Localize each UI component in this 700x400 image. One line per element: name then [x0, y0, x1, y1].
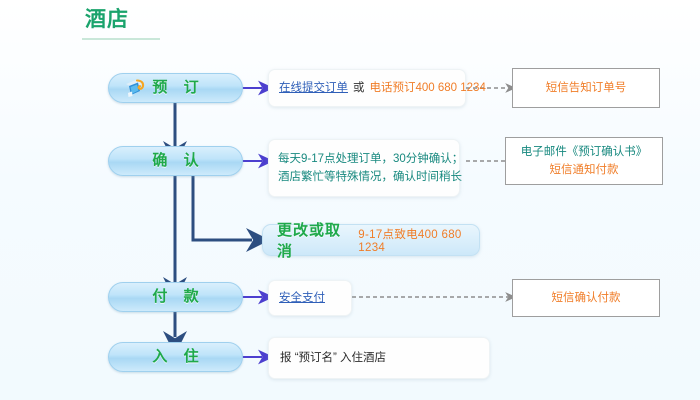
- title-underline: [82, 38, 160, 40]
- stage-payment[interactable]: 付 款: [108, 282, 243, 312]
- phone-booking-text: 电话预订400 680 1234: [370, 82, 486, 94]
- cancel-box-title: 更改或取消: [277, 219, 349, 261]
- infobox-confirm-line1: 每天9-17点处理订单，30分钟确认；: [269, 150, 459, 168]
- or-separator: 或: [353, 82, 365, 94]
- resultbox-booking-line1: 短信告知订单号: [546, 79, 627, 97]
- booking-card-icon: [123, 77, 147, 101]
- stage-label: 预 订: [146, 79, 204, 97]
- flowchart-canvas: 酒店: [0, 0, 700, 400]
- stage-label: 付 款: [146, 288, 204, 306]
- infobox-checkin: 报 “预订名” 入住酒店: [268, 337, 490, 379]
- resultbox-confirm-line1: 电子邮件《预订确认书》: [521, 143, 648, 161]
- stage-label: 确 认: [146, 152, 204, 170]
- infobox-payment-line: 安全支付: [269, 289, 351, 307]
- infobox-confirm: 每天9-17点处理订单，30分钟确认； 酒店繁忙等特殊情况，确认时间稍长: [268, 139, 460, 197]
- cancel-box[interactable]: 更改或取消 9-17点致电400 680 1234: [262, 224, 480, 256]
- infobox-booking: 在线提交订单或电话预订400 680 1234: [268, 69, 466, 107]
- infobox-checkin-line1: 报 “预订名” 入住酒店: [269, 349, 489, 367]
- stage-checkin[interactable]: 入 住: [108, 342, 243, 372]
- connector-confirm-to-cancel: [193, 174, 252, 240]
- infobox-confirm-line2: 酒店繁忙等特殊情况，确认时间稍长: [269, 168, 459, 186]
- page-title: 酒店: [85, 7, 129, 33]
- online-order-link[interactable]: 在线提交订单: [279, 82, 348, 94]
- stage-label: 入 住: [146, 348, 204, 366]
- secure-payment-link[interactable]: 安全支付: [279, 292, 325, 304]
- infobox-payment: 安全支付: [268, 280, 352, 316]
- infobox-booking-line: 在线提交订单或电话预订400 680 1234: [269, 79, 465, 97]
- resultbox-confirm-line2: 短信通知付款: [550, 161, 619, 179]
- resultbox-payment-line1: 短信确认付款: [552, 289, 621, 307]
- resultbox-confirm: 电子邮件《预订确认书》 短信通知付款: [505, 137, 663, 185]
- stage-confirm[interactable]: 确 认: [108, 146, 243, 176]
- stage-booking[interactable]: 预 订: [108, 73, 243, 103]
- resultbox-payment: 短信确认付款: [512, 279, 660, 317]
- cancel-box-subtitle: 9-17点致电400 680 1234: [358, 226, 479, 254]
- resultbox-booking: 短信告知订单号: [512, 68, 660, 108]
